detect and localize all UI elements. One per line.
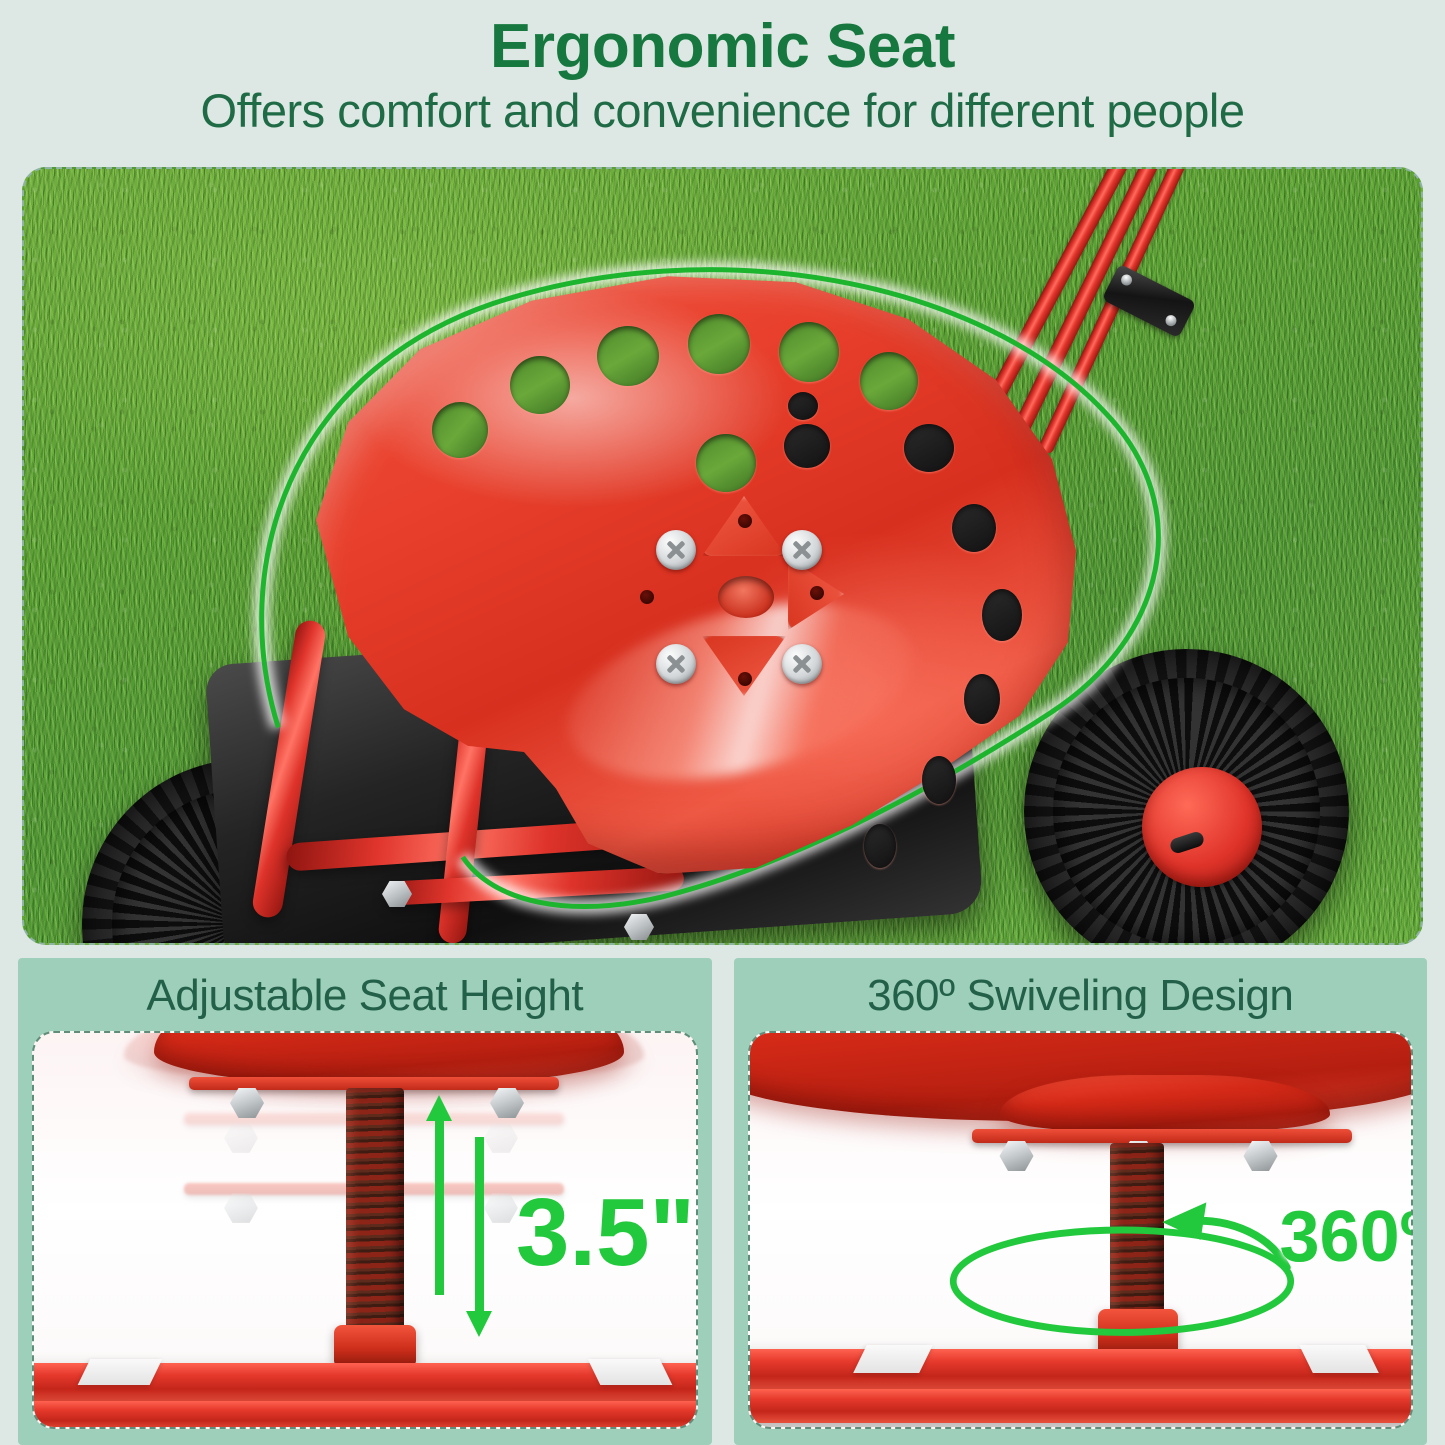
seat-icon [292, 264, 1092, 874]
card-360-swiveling-design: 360º Swiveling Design 360º [734, 958, 1428, 1445]
header: Ergonomic Seat Offers comfort and conven… [0, 0, 1445, 137]
arrow-up-icon [426, 1095, 452, 1295]
frame-brace [1299, 1345, 1379, 1373]
base-tube [32, 1401, 698, 1429]
seat-mount-plate [622, 504, 872, 694]
screw-icon [656, 644, 696, 684]
frame-brace [853, 1345, 933, 1373]
card-title: Adjustable Seat Height [146, 968, 583, 1023]
hero-product-image [22, 167, 1423, 945]
screw-icon [782, 530, 822, 570]
feature-cards: Adjustable Seat Height [0, 958, 1445, 1445]
base-tube [748, 1389, 1414, 1423]
arrow-down-icon [466, 1137, 492, 1337]
threaded-post-icon [346, 1088, 404, 1338]
page-title: Ergonomic Seat [0, 14, 1445, 79]
card-image-swivel: 360º [748, 1031, 1414, 1429]
rotation-annotation: 360º [1280, 1201, 1414, 1273]
card-adjustable-seat-height: Adjustable Seat Height [18, 958, 712, 1445]
height-annotation: 3.5" [516, 1185, 695, 1281]
frame-brace [588, 1359, 673, 1385]
screw-icon [782, 644, 822, 684]
screw-icon [656, 530, 696, 570]
post-collar [334, 1325, 416, 1365]
card-image-height-adjust: 3.5" [32, 1031, 698, 1429]
page-subtitle: Offers comfort and convenience for diffe… [0, 85, 1445, 137]
card-title: 360º Swiveling Design [867, 968, 1293, 1023]
frame-brace [78, 1359, 163, 1385]
